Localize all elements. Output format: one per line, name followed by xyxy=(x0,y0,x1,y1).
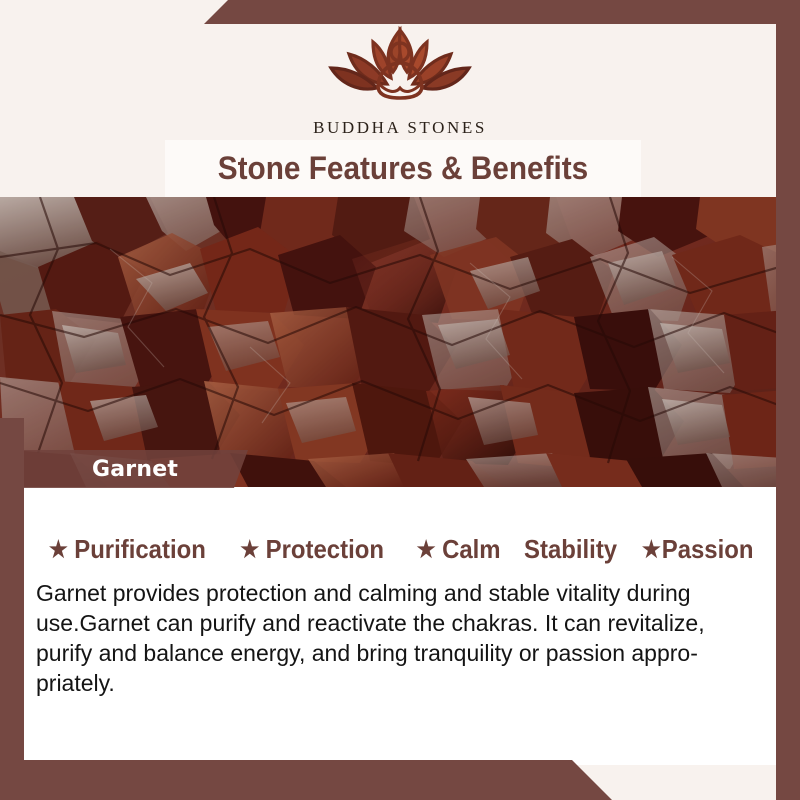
description-text: Garnet provides protection and calming a… xyxy=(36,578,758,698)
benefit-label: Passion xyxy=(662,534,754,565)
stone-name-bar: Garnet xyxy=(18,450,248,488)
page-title: Stone Features & Benefits xyxy=(182,140,625,197)
benefit-label: Protection xyxy=(266,534,384,565)
stone-name: Garnet xyxy=(92,457,178,482)
benefit-item-0: ★Purification xyxy=(49,534,206,565)
frame-left-accent xyxy=(0,418,24,800)
benefit-item-4: ★Passion xyxy=(642,534,754,565)
benefit-item-1: ★Protection xyxy=(241,534,385,565)
benefit-label: Calm xyxy=(442,534,500,565)
star-icon: ★ xyxy=(241,538,260,561)
frame-bottom-accent xyxy=(0,760,800,800)
brand-logo: BUDDHA STONES xyxy=(0,22,800,138)
benefit-item-3: Stability xyxy=(524,534,617,565)
benefit-label: Purification xyxy=(74,534,206,565)
description-block: Garnet provides protection and calming a… xyxy=(36,578,758,698)
lotus-meditation-icon xyxy=(315,22,485,114)
frame-top-accent xyxy=(0,0,800,24)
star-icon: ★ xyxy=(49,538,68,561)
title-band: Stone Features & Benefits xyxy=(165,140,641,197)
photo-artwork xyxy=(0,197,800,487)
infographic-page: BUDDHA STONES Stone Features & Benefits … xyxy=(0,0,800,800)
garnet-crystals-photo xyxy=(0,197,800,487)
benefit-item-2: ★Calm xyxy=(416,534,500,565)
benefits-row: ★Purification ★Protection ★Calm Stabilit… xyxy=(24,528,776,570)
star-icon: ★ xyxy=(416,538,435,561)
benefit-label: Stability xyxy=(524,534,617,565)
brand-name: BUDDHA STONES xyxy=(313,118,487,138)
star-icon: ★ xyxy=(642,538,661,561)
